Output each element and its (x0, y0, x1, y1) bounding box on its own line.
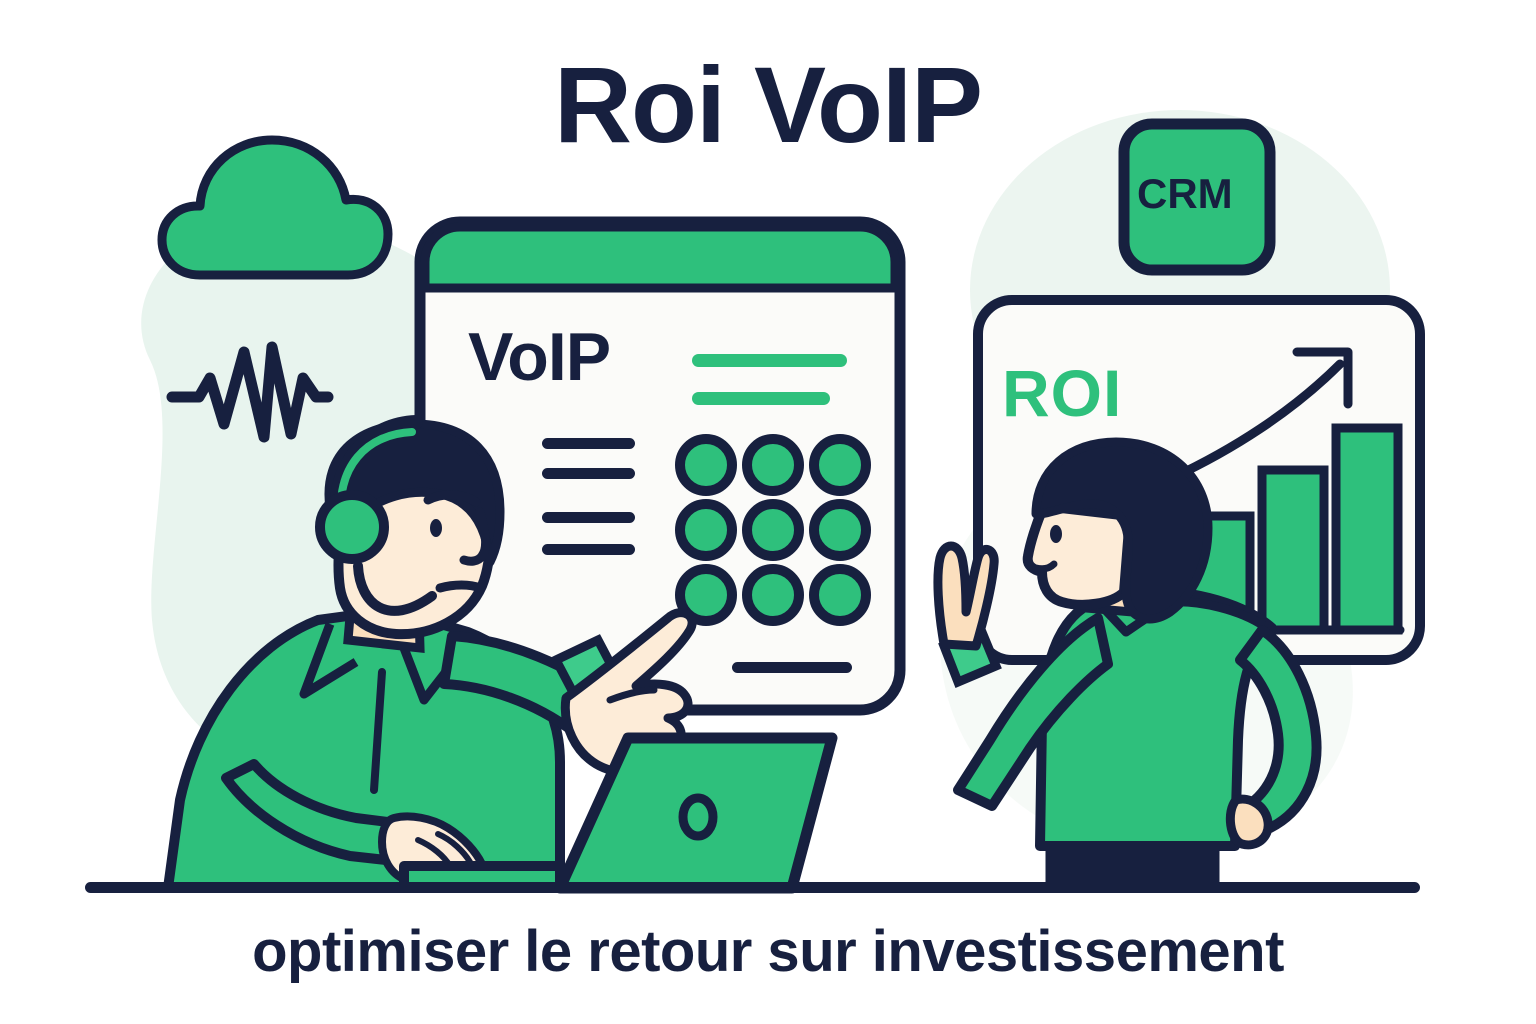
crm-badge-label: CRM (1137, 170, 1233, 218)
analyst-face (1028, 506, 1130, 605)
chart-bar-2 (1262, 470, 1324, 630)
dialpad-key-3[interactable] (814, 439, 866, 491)
chart-bar-3 (1336, 428, 1398, 630)
voip-footer-line (732, 662, 852, 673)
analyst-hand-hip (1230, 799, 1268, 845)
voip-detail-line-3 (542, 512, 635, 523)
illustration-canvas: Roi VoIP VoIP ROI CRM optimiser le retou… (0, 0, 1536, 1024)
dialpad-key-4[interactable] (680, 504, 732, 556)
voip-card-label: VoIP (468, 318, 610, 396)
dialpad-key-8[interactable] (747, 569, 799, 621)
roi-panel-label: ROI (1002, 355, 1122, 431)
ground-line (85, 882, 1420, 893)
headset-earcup (320, 495, 384, 559)
voip-card-header-bar (425, 227, 895, 288)
voip-dialpad[interactable] (680, 439, 866, 621)
dialpad-key-6[interactable] (814, 504, 866, 556)
dialpad-key-9[interactable] (814, 569, 866, 621)
voip-detail-line-4 (542, 544, 635, 555)
dialpad-key-5[interactable] (747, 504, 799, 556)
analyst-eye (1050, 525, 1062, 543)
dialpad-key-1[interactable] (680, 439, 732, 491)
dialpad-key-2[interactable] (747, 439, 799, 491)
voip-accent-line-1 (692, 354, 847, 367)
voip-detail-line-1 (542, 438, 635, 449)
page-caption: optimiser le retour sur investissement (0, 918, 1536, 985)
voip-detail-line-2 (542, 468, 635, 479)
agent-mouth (440, 585, 480, 588)
page-title: Roi VoIP (0, 48, 1536, 161)
voip-accent-line-2 (692, 392, 830, 405)
agent-eye (430, 519, 442, 537)
